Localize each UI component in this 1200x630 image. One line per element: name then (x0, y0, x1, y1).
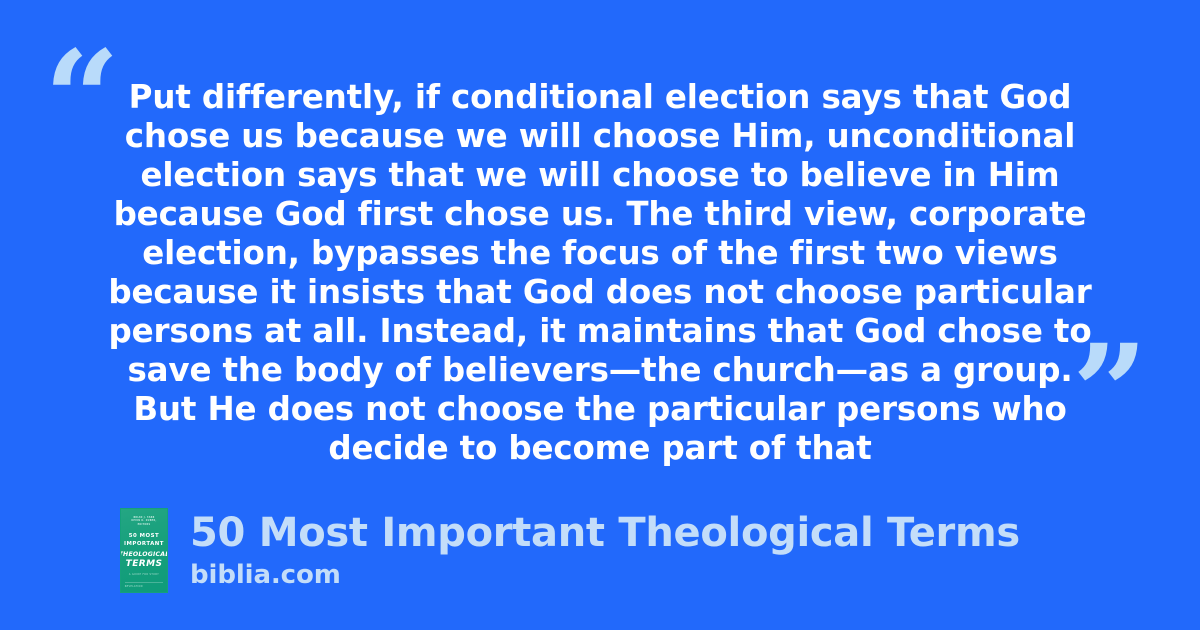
book-cover-subtitle: A GUIDE FOR STUDY (129, 573, 159, 576)
book-cover-authors-line-2: KEVIN D. ZUBER, EDITORS (126, 519, 163, 526)
quote-text: Put differently, if conditional election… (100, 78, 1100, 468)
book-cover-index-left: REVELATION (125, 585, 143, 588)
footer-text-block: 50 Most Important Theological Terms bibl… (190, 508, 1020, 590)
quote-card: “ Put differently, if conditional electi… (0, 0, 1200, 630)
book-cover-index-row: REVELATION (125, 582, 164, 588)
book-cover-title-line-1: 50 MOST (129, 532, 159, 540)
closing-quote-icon: ” (1072, 328, 1146, 460)
book-cover-title-line-4: TERMS (126, 559, 163, 570)
book-cover-title-line-3: THEOLOGICAL (120, 550, 168, 559)
book-cover-thumbnail: BRIAN J. TABB KEVIN D. ZUBER, EDITORS 50… (120, 508, 168, 593)
book-cover-title-line-2: IMPORTANT (124, 540, 164, 548)
site-name[interactable]: biblia.com (190, 560, 1020, 590)
book-cover-index: REVELATION ELECTION SANCTIFICATION ILLUM… (125, 582, 164, 593)
card-footer: BRIAN J. TABB KEVIN D. ZUBER, EDITORS 50… (120, 508, 1020, 593)
quote-block: Put differently, if conditional election… (100, 78, 1100, 468)
book-title: 50 Most Important Theological Terms (190, 510, 1020, 556)
